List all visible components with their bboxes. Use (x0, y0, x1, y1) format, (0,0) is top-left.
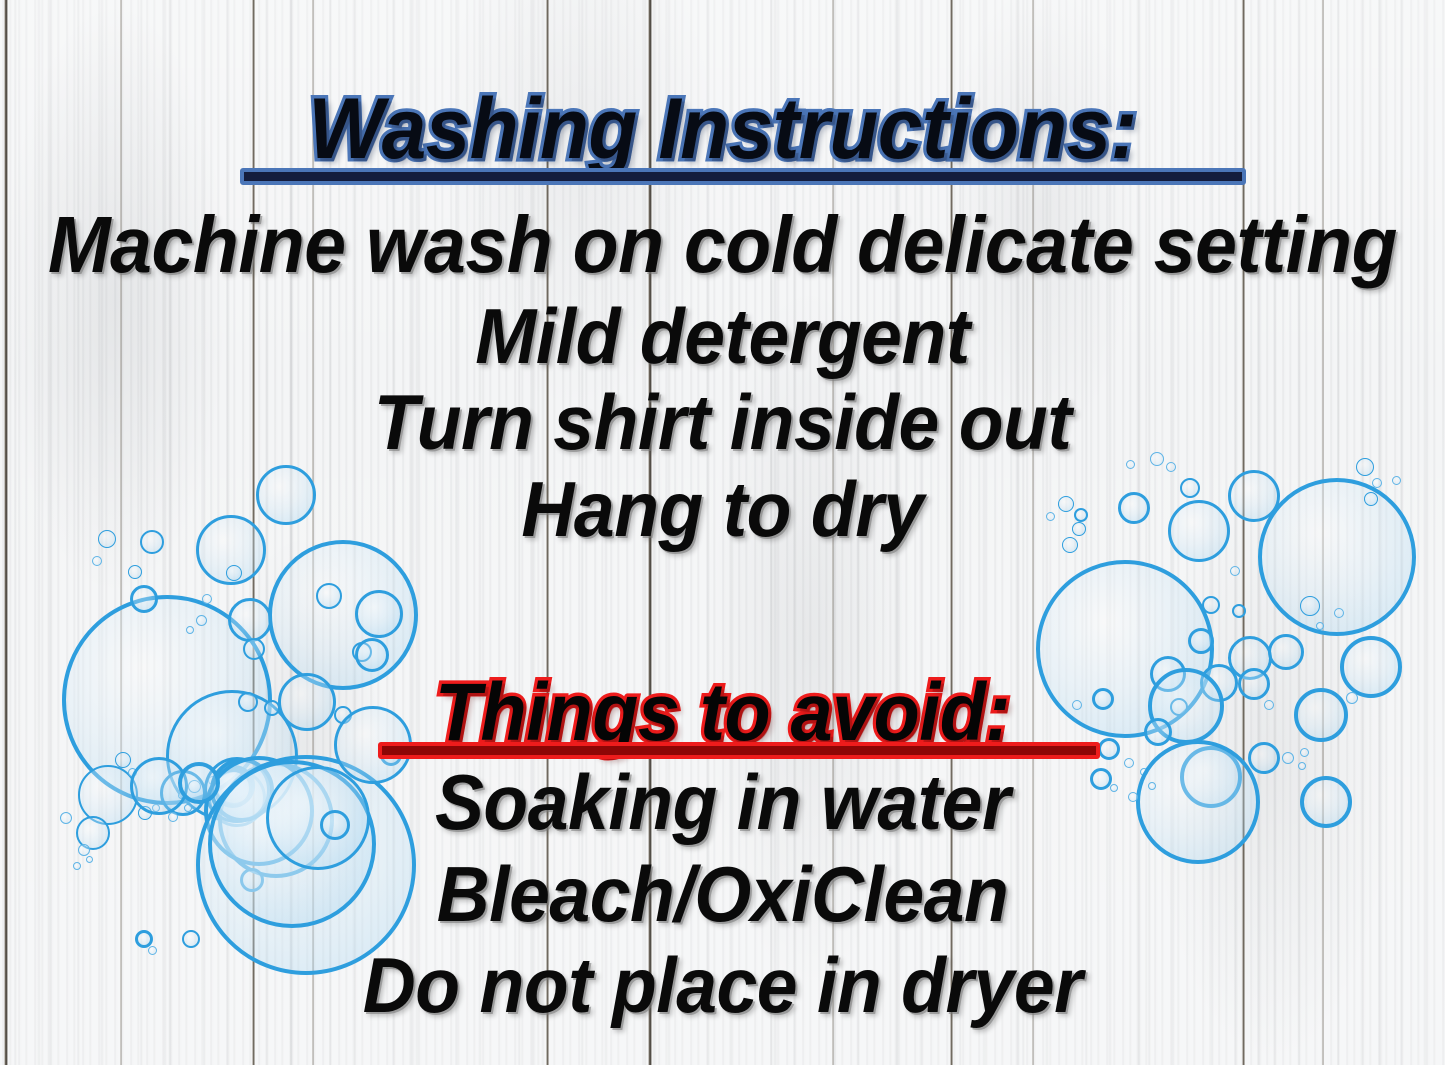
washing-instructions-sign: Washing Instructions: Machine wash on co… (0, 0, 1445, 1065)
instruction-line-mild-detergent: Mild detergent (43, 297, 1401, 375)
instruction-line-machine-wash: Machine wash on cold delicate setting (43, 205, 1401, 285)
things-to-avoid-underline (378, 742, 1100, 759)
washing-instructions-heading: Washing Instructions: (51, 86, 1395, 172)
washing-instructions-underline (240, 168, 1246, 185)
instruction-line-turn-inside-out: Turn shirt inside out (43, 383, 1401, 461)
avoid-line-do-not-place-in-dryer: Do not place in dryer (43, 946, 1401, 1024)
avoid-line-bleach-oxiclean: Bleach/OxiClean (43, 855, 1401, 933)
sign-text-content: Washing Instructions: Machine wash on co… (0, 0, 1445, 1065)
instruction-line-hang-to-dry: Hang to dry (43, 470, 1401, 548)
avoid-line-soaking-in-water: Soaking in water (43, 763, 1401, 841)
